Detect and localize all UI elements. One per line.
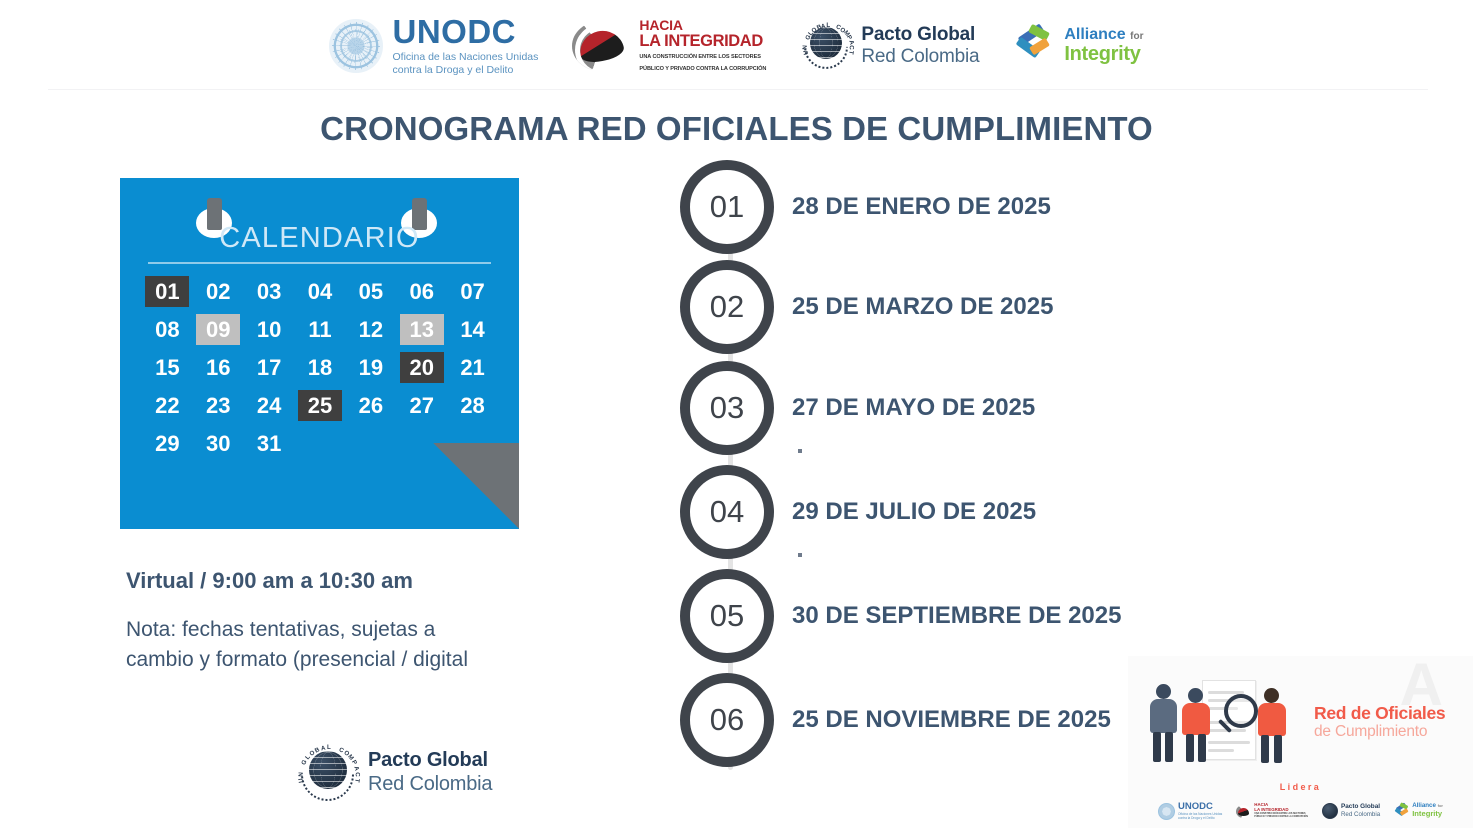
timeline-date-label: 28 DE ENERO DE 2025 [792,193,1051,221]
calendar-day-21[interactable]: 21 [447,350,498,384]
calendar-day-label: 19 [349,352,393,383]
promo-lidera-label: Lidera [1128,782,1473,792]
unodc-title: UNODC [392,15,538,48]
promo-card: A [1128,656,1473,828]
calendar-day-29[interactable]: 29 [142,426,193,460]
calendar-day-22[interactable]: 22 [142,388,193,422]
promo-unodc-title: UNODC [1178,802,1222,812]
calendar-day-label: 27 [400,390,444,421]
calendar-day-28[interactable]: 28 [447,388,498,422]
schedule-note: Virtual / 9:00 am a 10:30 am [126,568,556,594]
unodc-text-block: UNODC Oficina de las Naciones Unidas con… [392,15,538,77]
calendar-day-23[interactable]: 23 [193,388,244,422]
calendar-folded-corner [433,443,519,529]
alliance-line1-main: Alliance [1064,26,1125,43]
pacto-global-line2: Red Colombia [861,46,979,68]
timeline-date-label: 25 DE MARZO DE 2025 [792,293,1053,321]
calendar-day-24[interactable]: 24 [244,388,295,422]
calendar-rule [148,262,491,264]
slide-canvas: UNODC Oficina de las Naciones Unidas con… [0,0,1473,828]
calendar-day-16[interactable]: 16 [193,350,244,384]
calendar-day-02[interactable]: 02 [193,274,244,308]
alliance-line1-small: for [1130,31,1143,42]
calendar-day-17[interactable]: 17 [244,350,295,384]
promo-illustration [1140,666,1320,776]
calendar-day-04[interactable]: 04 [295,274,346,308]
un-global-compact-globe-icon: UN GLOBAL COMPACT [800,20,852,72]
header-logo-bar: UNODC Oficina de las Naciones Unidas con… [0,0,1473,92]
un-emblem-icon [329,19,383,73]
calendar-heading: CALENDARIO [120,222,519,255]
unodc-subtitle-line2: contra la Droga y el Delito [392,64,538,77]
timeline-step-number: 01 [680,160,774,254]
swoosh-icon [572,21,630,71]
calendar-day-label: 17 [247,352,291,383]
logo-pacto-global: UN GLOBAL COMPACT Pacto Global Red Colom… [800,20,979,72]
timeline-date-label: 25 DE NOVIEMBRE DE 2025 [792,706,1111,734]
promo-pg-line1: Pacto Global [1341,803,1380,811]
alliance-line1: Alliance for [1064,27,1143,44]
calendar-day-label: 06 [400,276,444,307]
promo-partner-logos: UNODC Oficina de las Naciones Unidas con… [1128,796,1473,826]
calendar-day-07[interactable]: 07 [447,274,498,308]
calendar-day-label: 01 [145,276,189,307]
timeline-step-number: 06 [680,673,774,767]
promo-unodc-sub2: contra la Droga y el Delito [1178,816,1222,820]
calendar-day-30[interactable]: 30 [193,426,244,460]
hli-text-block: HACIA LA INTEGRIDAD UNA CONSTRUCCIÓN ENT… [639,18,766,73]
calendar-day-label: 26 [349,390,393,421]
calendar-day-label: 31 [247,428,291,459]
un-emblem-icon [1158,803,1175,820]
timeline-item-02[interactable]: 0225 DE MARZO DE 2025 [680,260,1053,354]
calendar-day-label: 08 [145,314,189,345]
calendar-day-label: 30 [196,428,240,459]
un-global-compact-arc-text: UN GLOBAL COMPACT [298,744,346,792]
footer-logo-text-block: Pacto Global Red Colombia [368,749,492,796]
timeline-item-04[interactable]: 0429 DE JULIO DE 2025 [680,465,1036,559]
swoosh-icon [1236,805,1251,818]
calendar-day-14[interactable]: 14 [447,312,498,346]
calendar-day-label: 11 [298,314,342,345]
logo-alliance-for-integrity: Alliance for Integrity [1013,26,1143,66]
calendar-day-25[interactable]: 25 [295,388,346,422]
calendar-day-label: 04 [298,276,342,307]
calendar-day-03[interactable]: 03 [244,274,295,308]
calendar-day-label: 25 [298,390,342,421]
calendar-day-label: 09 [196,314,240,345]
alliance-arrows-icon [1013,26,1055,66]
calendar-day-label: 29 [145,428,189,459]
calendar-day-08[interactable]: 08 [142,312,193,346]
timeline-step-number: 04 [680,465,774,559]
calendar-day-13[interactable]: 13 [396,312,447,346]
calendar-day-grid: 0102030405060708091011121314151617181920… [142,274,498,460]
page-title: CRONOGRAMA RED OFICIALES DE CUMPLIMIENTO [0,110,1473,148]
timeline-marker-dot [798,553,802,557]
calendar-day-09[interactable]: 09 [193,312,244,346]
calendar-day-label: 10 [247,314,291,345]
calendar-day-label: 03 [247,276,291,307]
calendar-day-label: 15 [145,352,189,383]
calendar-day-31[interactable]: 31 [244,426,295,460]
calendar-day-label: 07 [451,276,495,307]
promo-afi-line2: Integrity [1412,810,1443,818]
timeline-date-label: 27 DE MAYO DE 2025 [792,394,1035,422]
calendar-day-05[interactable]: 05 [345,274,396,308]
calendar-day-18[interactable]: 18 [295,350,346,384]
calendar-day-27[interactable]: 27 [396,388,447,422]
timeline-marker-dot [798,449,802,453]
timeline-date-label: 30 DE SEPTIEMBRE DE 2025 [792,602,1121,630]
timeline-item-05[interactable]: 0530 DE SEPTIEMBRE DE 2025 [680,569,1121,663]
hli-line1: HACIA [639,18,766,33]
pacto-global-text-block: Pacto Global Red Colombia [861,24,979,69]
calendar-graphic: CALENDARIO 01020304050607080910111213141… [120,178,519,529]
footer-logo-line2: Red Colombia [368,773,492,797]
calendar-day-label: 22 [145,390,189,421]
unodc-subtitle: Oficina de las Naciones Unidas contra la… [392,51,538,77]
promo-logo-unodc: UNODC Oficina de las Naciones Unidas con… [1158,802,1222,820]
calendar-day-10[interactable]: 10 [244,312,295,346]
promo-afi-line1-small: for [1438,803,1443,808]
calendar-day-label: 24 [247,390,291,421]
alliance-text-block: Alliance for Integrity [1064,27,1143,65]
calendar-day-label: 20 [400,352,444,383]
calendar-day-15[interactable]: 15 [142,350,193,384]
calendar-day-19[interactable]: 19 [345,350,396,384]
calendar-day-label: 28 [451,390,495,421]
calendar-day-01[interactable]: 01 [142,274,193,308]
calendar-day-label: 13 [400,314,444,345]
calendar-day-label: 18 [298,352,342,383]
footer-logo-pacto-global: UN GLOBAL COMPACT Pacto Global Red Colom… [296,742,492,804]
hli-line4: PÚBLICO Y PRIVADO CONTRA LA CORRUPCIÓN [639,65,766,74]
promo-logo-hacia-la-integridad: HACIA LA INTEGRIDAD UNA CONSTRUCCIÓN ENT… [1236,803,1308,819]
timeline-date-label: 29 DE JULIO DE 2025 [792,498,1036,526]
promo-logo-pacto-global: Pacto Global Red Colombia [1322,803,1380,819]
header-divider [48,89,1428,90]
timeline-step-number: 03 [680,361,774,455]
calendar-day-06[interactable]: 06 [396,274,447,308]
timeline-item-06[interactable]: 0625 DE NOVIEMBRE DE 2025 [680,673,1111,767]
pacto-global-line1: Pacto Global [861,24,979,46]
calendar-day-20[interactable]: 20 [396,350,447,384]
promo-title-line2: de Cumplimiento [1314,723,1472,741]
footer-logo-line1: Pacto Global [368,749,492,773]
logo-hacia-la-integridad: HACIA LA INTEGRIDAD UNA CONSTRUCCIÓN ENT… [572,18,766,73]
promo-logo-alliance-for-integrity: Alliance for Integrity [1394,803,1443,818]
promo-pg-line2: Red Colombia [1341,811,1380,818]
timeline-item-03[interactable]: 0327 DE MAYO DE 2025 [680,361,1035,455]
globe-icon [1322,803,1338,819]
calendar-day-label: 05 [349,276,393,307]
calendar-day-label: 02 [196,276,240,307]
calendar-day-11[interactable]: 11 [295,312,346,346]
unodc-subtitle-line1: Oficina de las Naciones Unidas [392,51,538,64]
calendar-day-26[interactable]: 26 [345,388,396,422]
un-global-compact-globe-icon: UN GLOBAL COMPACT [296,742,358,804]
calendar-day-12[interactable]: 12 [345,312,396,346]
hli-line2: LA INTEGRIDAD [639,33,766,50]
calendar-day-label: 12 [349,314,393,345]
disclaimer-note: Nota: fechas tentativas, sujetas a cambi… [126,615,476,675]
calendar-day-label: 21 [451,352,495,383]
promo-title-line1: Red de Oficiales [1314,704,1472,723]
timeline-step-number: 02 [680,260,774,354]
calendar-day-label: 23 [196,390,240,421]
timeline-item-01[interactable]: 0128 DE ENERO DE 2025 [680,160,1051,254]
calendar-day-label: 16 [196,352,240,383]
logo-unodc: UNODC Oficina de las Naciones Unidas con… [329,15,538,77]
hli-line3: UNA CONSTRUCCIÓN ENTRE LOS SECTORES [639,53,766,62]
promo-hli-line4: PÚBLICO Y PRIVADO CONTRA LA CORRUPCIÓN [1254,816,1308,819]
promo-title: Red de Oficiales de Cumplimiento [1314,704,1472,741]
alliance-arrows-icon [1394,804,1409,818]
timeline-step-number: 05 [680,569,774,663]
calendar-day-label: 14 [451,314,495,345]
alliance-line2: Integrity [1064,44,1143,65]
magnifier-icon [1224,694,1258,728]
un-global-compact-arc-text: UN GLOBAL COMPACT [802,22,850,70]
timeline: 0128 DE ENERO DE 20250225 DE MARZO DE 20… [680,160,1150,780]
